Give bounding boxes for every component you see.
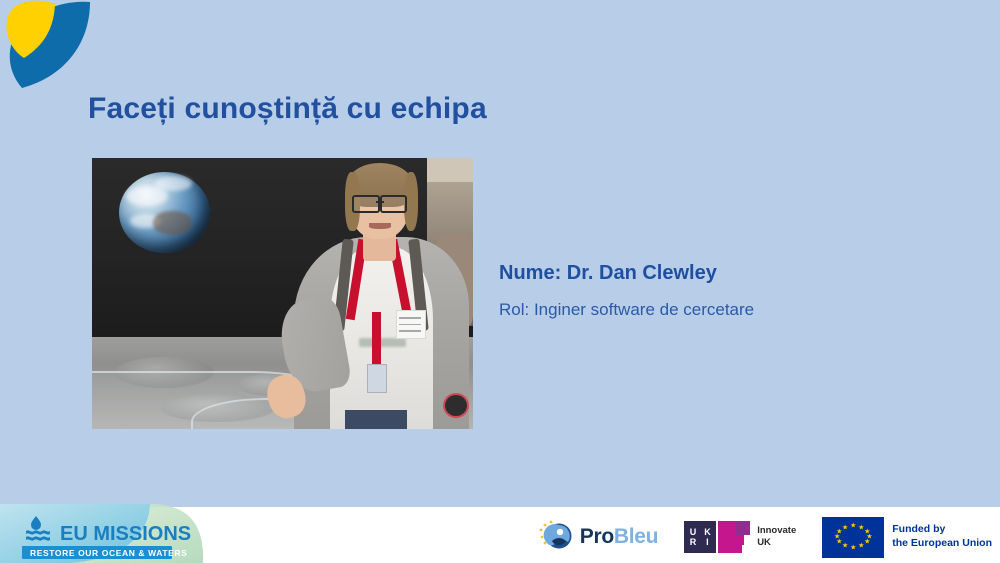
- slide-canvas: Faceți cunoștință cu echipa: [0, 0, 1000, 563]
- eu-flag-star: ★: [850, 544, 856, 551]
- eu-flag-icon: ★★★★★★★★★★★★: [822, 517, 884, 558]
- probleu-globe-icon: [538, 520, 574, 554]
- team-member-photo: [92, 158, 473, 429]
- probleu-pro: Pro: [580, 525, 614, 548]
- eu-flag-star: ★: [864, 539, 870, 546]
- glasses-icon: [352, 195, 407, 210]
- footer-bar: EU MISSIONS RESTORE OUR OCEAN & WATERS: [0, 507, 1000, 563]
- eu-missions-logo: EU MISSIONS RESTORE OUR OCEAN & WATERS: [0, 500, 205, 563]
- mouth: [369, 223, 391, 229]
- eu-missions-title: EU MISSIONS: [60, 523, 191, 545]
- ukri-letter-r: R: [690, 538, 697, 547]
- ukri-letters: U K R I: [684, 521, 716, 553]
- person-figure: [290, 158, 473, 429]
- ukri-blocks-icon: [718, 521, 750, 553]
- eu-funded-line2: the European Union: [892, 537, 992, 551]
- funder-logos: ProBleu U K R I: [538, 517, 992, 557]
- ukri-letter-u: U: [690, 528, 697, 537]
- ukri-caption: Innovate UK: [757, 525, 796, 549]
- name-badge: [396, 310, 425, 339]
- probleu-logo: ProBleu: [538, 520, 658, 554]
- eu-funded-caption: Funded by the European Union: [892, 523, 992, 550]
- eu-funded-line1: Funded by: [892, 523, 992, 537]
- eu-flag-star: ★: [850, 523, 856, 530]
- eu-flag-star: ★: [842, 543, 848, 550]
- eu-funded-logo: ★★★★★★★★★★★★ Funded by the European Unio…: [822, 517, 992, 558]
- probleu-bleu: Bleu: [614, 525, 658, 548]
- ukri-letter-k: K: [704, 528, 711, 537]
- id-badge: [367, 364, 387, 393]
- eu-missions-tagline: RESTORE OUR OCEAN & WATERS: [30, 548, 187, 558]
- photo-scene: [92, 158, 473, 429]
- ukri-caption-line2: UK: [757, 537, 796, 549]
- ukri-caption-line1: Innovate: [757, 525, 796, 537]
- earth-poster: [119, 172, 210, 253]
- jeans: [345, 410, 407, 429]
- probleu-wordmark: ProBleu: [580, 525, 658, 549]
- ukri-mark: U K R I: [684, 521, 750, 553]
- ukri-letter-i: I: [706, 538, 709, 547]
- eu-flag-star: ★: [858, 543, 864, 550]
- ukri-logo: U K R I Innovate UK: [684, 521, 796, 553]
- person-name: Nume: Dr. Dan Clewley: [499, 262, 717, 285]
- moon-and-wave-logo-icon: [0, 0, 100, 95]
- eu-flag-star: ★: [842, 524, 848, 531]
- person-role: Rol: Inginer software de cercetare: [499, 300, 754, 320]
- page-title: Faceți cunoștință cu echipa: [88, 92, 487, 126]
